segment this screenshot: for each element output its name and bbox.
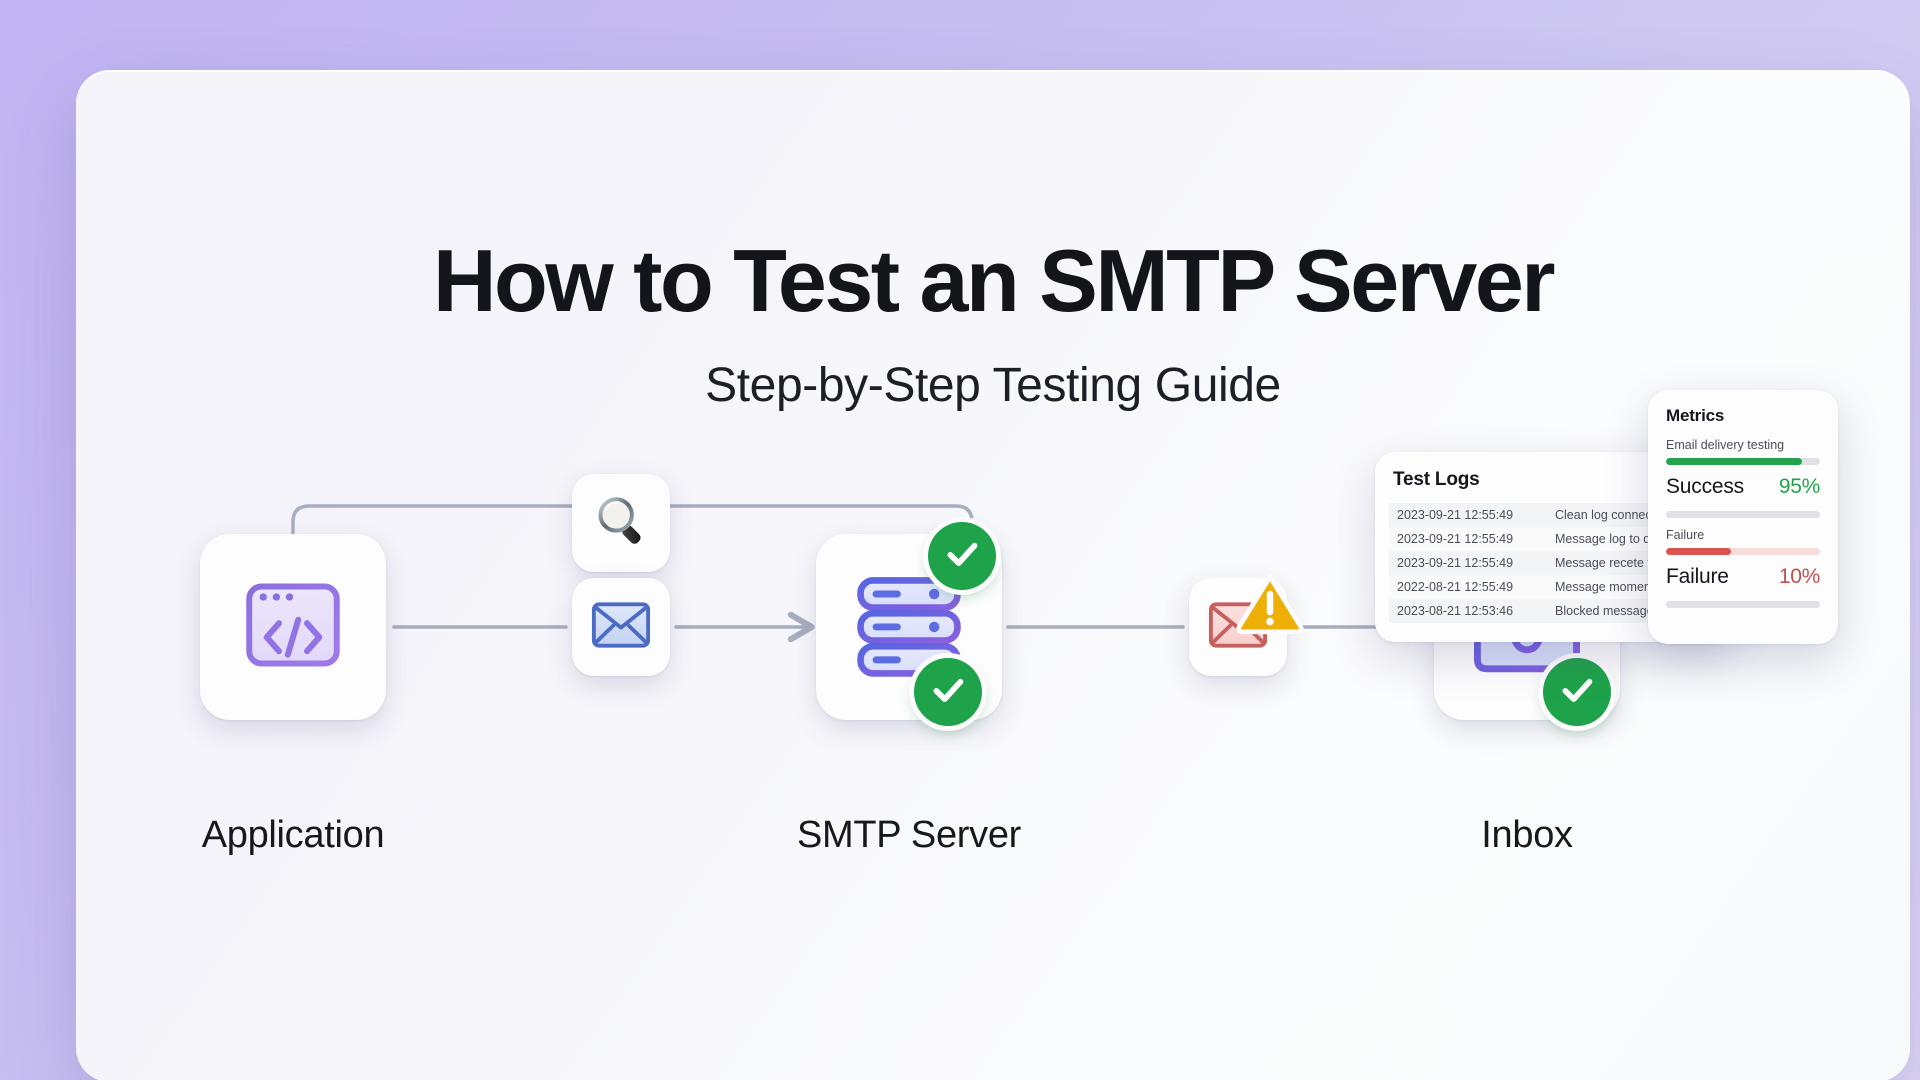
status-badge-inbox — [1543, 658, 1611, 726]
node-application[interactable] — [200, 534, 386, 720]
test-logs-title: Test Logs — [1393, 469, 1480, 491]
success-progress-bar — [1666, 458, 1820, 465]
metric-success: Success 95% — [1666, 475, 1820, 499]
check-circle-icon — [1557, 670, 1597, 715]
divider-bar-2 — [1666, 601, 1820, 608]
metric-success-label: Success — [1666, 475, 1744, 499]
label-inbox: Inbox — [1347, 814, 1707, 857]
metrics-panel: Metrics Email delivery testing Success 9… — [1648, 390, 1838, 644]
log-message: Message moments — [1555, 580, 1661, 594]
metrics-title: Metrics — [1666, 406, 1820, 426]
node-inspect[interactable] — [572, 474, 670, 572]
log-timestamp: 2023-09-21 12:55:49 — [1397, 508, 1531, 522]
status-badge-smtp-top — [928, 522, 996, 590]
check-circle-icon — [942, 534, 982, 579]
log-timestamp: 2023-09-21 12:55:49 — [1397, 556, 1531, 570]
node-send-mail[interactable] — [572, 578, 670, 676]
metrics-caption: Email delivery testing — [1666, 438, 1820, 452]
warning-triangle-icon — [1234, 623, 1306, 640]
log-timestamp: 2023-09-21 12:55:49 — [1397, 532, 1531, 546]
log-timestamp: 2023-08-21 12:53:46 — [1397, 604, 1531, 618]
code-window-icon — [237, 569, 349, 686]
hero-card: How to Test an SMTP Server Step-by-Step … — [76, 70, 1910, 1080]
metric-success-value: 95% — [1779, 475, 1820, 499]
divider-bar-1 — [1666, 511, 1820, 518]
envelope-blue-icon — [590, 594, 652, 661]
failure-progress-bar — [1666, 548, 1820, 555]
log-message: Blocked message — [1555, 604, 1654, 618]
log-timestamp: 2022-08-21 12:55:49 — [1397, 580, 1531, 594]
magnifying-glass-icon — [592, 492, 650, 555]
metric-failure-value: 10% — [1779, 565, 1820, 589]
metric-failure-label: Failure — [1666, 565, 1729, 589]
label-application: Application — [113, 814, 473, 857]
failure-caption: Failure — [1666, 528, 1820, 542]
metric-failure: Failure 10% — [1666, 565, 1820, 589]
status-badge-bounce-warning — [1234, 570, 1306, 636]
status-badge-smtp-bottom — [914, 658, 982, 726]
check-circle-icon — [928, 670, 968, 715]
label-smtp-server: SMTP Server — [729, 814, 1089, 857]
flow-diagram: Application — [76, 70, 1910, 1080]
